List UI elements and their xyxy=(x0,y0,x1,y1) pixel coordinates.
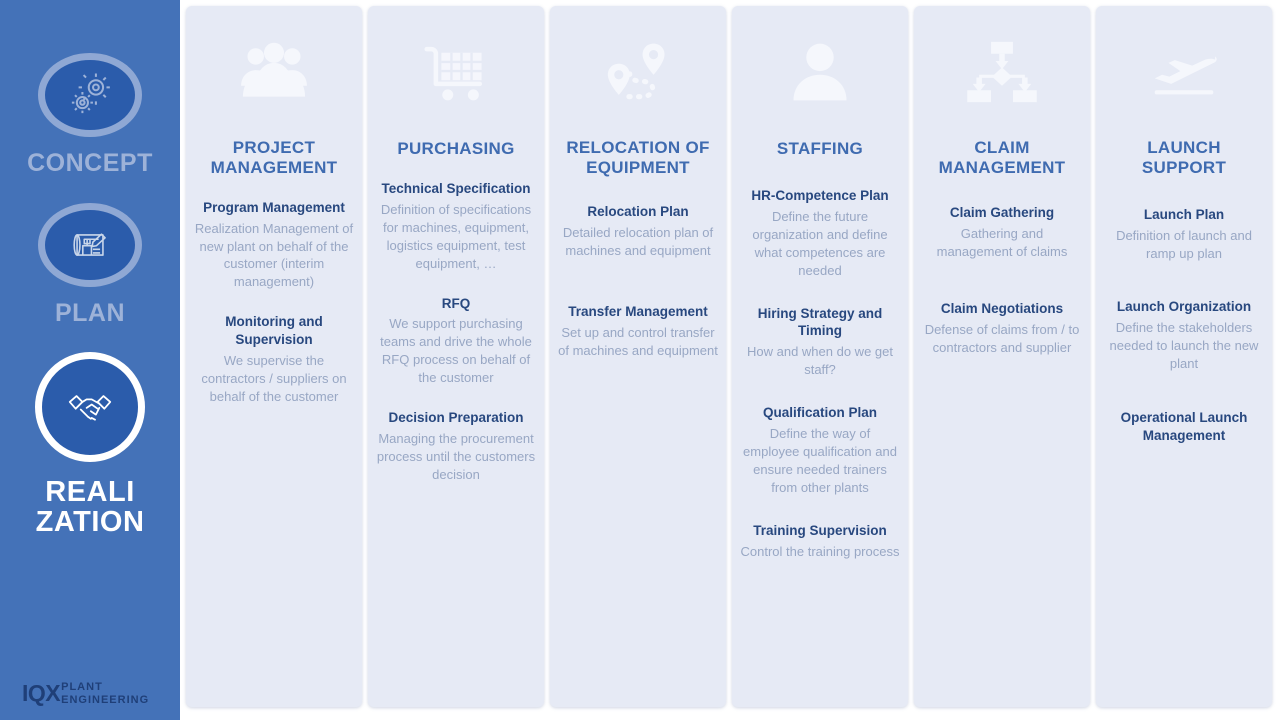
item-title: Qualification Plan xyxy=(740,404,900,422)
phase-realization-label-line2: ZATION xyxy=(36,508,145,538)
list-item: Claim Gathering Gathering and management… xyxy=(922,204,1082,261)
column-2-title: PURCHASING xyxy=(395,138,516,159)
blueprint-icon xyxy=(67,222,113,268)
column-5-items: Claim Gathering Gathering and management… xyxy=(922,204,1082,397)
item-desc: Set up and control transfer of machines … xyxy=(558,324,718,360)
item-title: Hiring Strategy and Timing xyxy=(740,305,900,341)
item-desc: Definition of launch and ramp up plan xyxy=(1104,227,1264,263)
item-title: Relocation Plan xyxy=(558,203,718,221)
phase-realization-label: REALI ZATION xyxy=(36,478,145,537)
list-item: Operational Launch Management xyxy=(1104,409,1264,445)
column-project-management[interactable]: PROJECT MANAGEMENT Program Management Re… xyxy=(186,6,362,707)
phase-plan-circle xyxy=(38,203,142,287)
item-title: Launch Organization xyxy=(1104,298,1264,316)
list-item: Program Management Realization Managemen… xyxy=(194,199,354,292)
column-5-title-line1: CLAIM xyxy=(939,138,1066,158)
phase-realization[interactable]: REALI ZATION xyxy=(0,352,180,537)
item-title: Transfer Management xyxy=(558,303,718,321)
item-desc: We supervise the contractors / suppliers… xyxy=(194,352,354,406)
item-title: Operational Launch Management xyxy=(1104,409,1264,445)
item-desc: Define the way of employee qualification… xyxy=(740,425,900,497)
item-title: Decision Preparation xyxy=(376,409,536,427)
list-item: HR-Competence Plan Define the future org… xyxy=(740,187,900,280)
phase-concept-circle xyxy=(38,53,142,137)
item-title: Program Management xyxy=(194,199,354,217)
item-title: Monitoring and Supervision xyxy=(194,313,354,349)
item-desc: We support purchasing teams and drive th… xyxy=(376,315,536,387)
column-relocation-of-equipment[interactable]: RELOCATION OF EQUIPMENT Relocation Plan … xyxy=(550,6,726,707)
list-item: Technical Specification Definition of sp… xyxy=(376,180,536,273)
list-item: Launch Plan Definition of launch and ram… xyxy=(1104,206,1264,263)
column-2-items: Technical Specification Definition of sp… xyxy=(376,180,536,506)
shopping-cart-icon xyxy=(419,40,493,104)
item-desc: Detailed relocation plan of machines and… xyxy=(558,224,718,260)
person-icon xyxy=(783,40,857,104)
item-desc: Defense of claims from / to contractors … xyxy=(922,321,1082,357)
flowchart-icon xyxy=(965,40,1039,104)
column-6-title-line2: SUPPORT xyxy=(1142,158,1226,178)
column-launch-support[interactable]: LAUNCH SUPPORT Launch Plan Definition of… xyxy=(1096,6,1272,707)
item-title: Training Supervision xyxy=(740,522,900,540)
item-title: Technical Specification xyxy=(376,180,536,198)
item-title: Claim Gathering xyxy=(922,204,1082,222)
column-3-icon-wrap xyxy=(601,6,675,138)
logo-wordmark: IQX xyxy=(22,682,60,705)
people-group-icon xyxy=(237,40,311,104)
item-desc: Define the future organization and defin… xyxy=(740,208,900,280)
column-6-items: Launch Plan Definition of launch and ram… xyxy=(1104,206,1264,481)
item-desc: Define the stakeholders needed to launch… xyxy=(1104,319,1264,373)
column-1-title-line1: PROJECT xyxy=(211,138,338,158)
item-desc: How and when do we get staff? xyxy=(740,343,900,379)
gears-icon xyxy=(63,68,117,122)
phase-realization-circle xyxy=(35,352,145,462)
item-desc: Control the training process xyxy=(740,543,900,561)
item-title: Launch Plan xyxy=(1104,206,1264,224)
column-claim-management[interactable]: CLAIM MANAGEMENT Claim Gathering Gatheri… xyxy=(914,6,1090,707)
column-6-title: LAUNCH SUPPORT xyxy=(1140,138,1228,179)
column-1-icon-wrap xyxy=(237,6,311,138)
list-item: Qualification Plan Define the way of emp… xyxy=(740,404,900,497)
item-title: HR-Competence Plan xyxy=(740,187,900,205)
logo-tagline-line2: ENGINEERING xyxy=(61,694,149,706)
phase-plan-label: PLAN xyxy=(55,301,125,327)
list-item: Training Supervision Control the trainin… xyxy=(740,522,900,561)
airplane-takeoff-icon xyxy=(1147,40,1221,104)
logo-tagline: PLANT ENGINEERING xyxy=(61,681,149,706)
handshake-icon xyxy=(63,380,117,434)
phase-sidebar: CONCEPT PLAN xyxy=(0,0,180,720)
column-4-title: STAFFING xyxy=(775,138,865,159)
column-2-icon-wrap xyxy=(419,6,493,138)
item-title: RFQ xyxy=(376,295,536,313)
iqx-logo: IQX PLANT ENGINEERING xyxy=(22,681,149,706)
column-5-title-line2: MANAGEMENT xyxy=(939,158,1066,178)
column-5-title: CLAIM MANAGEMENT xyxy=(937,138,1068,179)
column-2-title-line1: PURCHASING xyxy=(397,138,514,159)
list-item: Claim Negotiations Defense of claims fro… xyxy=(922,300,1082,357)
list-item: Transfer Management Set up and control t… xyxy=(558,303,718,360)
column-staffing[interactable]: STAFFING HR-Competence Plan Define the f… xyxy=(732,6,908,707)
column-1-title: PROJECT MANAGEMENT xyxy=(209,138,340,179)
column-4-title-line1: STAFFING xyxy=(777,138,863,159)
list-item: Launch Organization Define the stakehold… xyxy=(1104,298,1264,373)
column-purchasing[interactable]: PURCHASING Technical Specification Defin… xyxy=(368,6,544,707)
column-3-title-line1: RELOCATION OF xyxy=(566,138,709,158)
logo-tagline-line1: PLANT xyxy=(61,681,149,693)
item-desc: Managing the procurement process until t… xyxy=(376,430,536,484)
infographic-page: CONCEPT PLAN xyxy=(0,0,1280,720)
phase-concept[interactable]: CONCEPT xyxy=(0,53,180,177)
column-4-items: HR-Competence Plan Define the future org… xyxy=(740,187,900,585)
service-columns: PROJECT MANAGEMENT Program Management Re… xyxy=(186,6,1272,707)
item-desc: Realization Management of new plant on b… xyxy=(194,220,354,292)
column-5-icon-wrap xyxy=(965,6,1039,138)
column-3-title-line2: EQUIPMENT xyxy=(566,158,709,178)
list-item: Decision Preparation Managing the procur… xyxy=(376,409,536,484)
phase-concept-label: CONCEPT xyxy=(27,151,153,177)
item-title: Claim Negotiations xyxy=(922,300,1082,318)
column-3-items: Relocation Plan Detailed relocation plan… xyxy=(558,203,718,404)
list-item: Hiring Strategy and Timing How and when … xyxy=(740,305,900,380)
list-item: Monitoring and Supervision We supervise … xyxy=(194,313,354,405)
phase-plan[interactable]: PLAN xyxy=(0,203,180,327)
column-1-title-line2: MANAGEMENT xyxy=(211,158,338,178)
route-map-pins-icon xyxy=(601,40,675,104)
list-item: Relocation Plan Detailed relocation plan… xyxy=(558,203,718,260)
column-1-items: Program Management Realization Managemen… xyxy=(194,199,354,428)
item-desc: Definition of specifications for machine… xyxy=(376,201,536,273)
column-6-icon-wrap xyxy=(1147,6,1221,138)
column-3-title: RELOCATION OF EQUIPMENT xyxy=(564,138,711,179)
column-6-title-line1: LAUNCH xyxy=(1142,138,1226,158)
phase-realization-label-line1: REALI xyxy=(36,478,145,508)
list-item: RFQ We support purchasing teams and driv… xyxy=(376,295,536,388)
item-desc: Gathering and management of claims xyxy=(922,225,1082,261)
column-4-icon-wrap xyxy=(783,6,857,138)
